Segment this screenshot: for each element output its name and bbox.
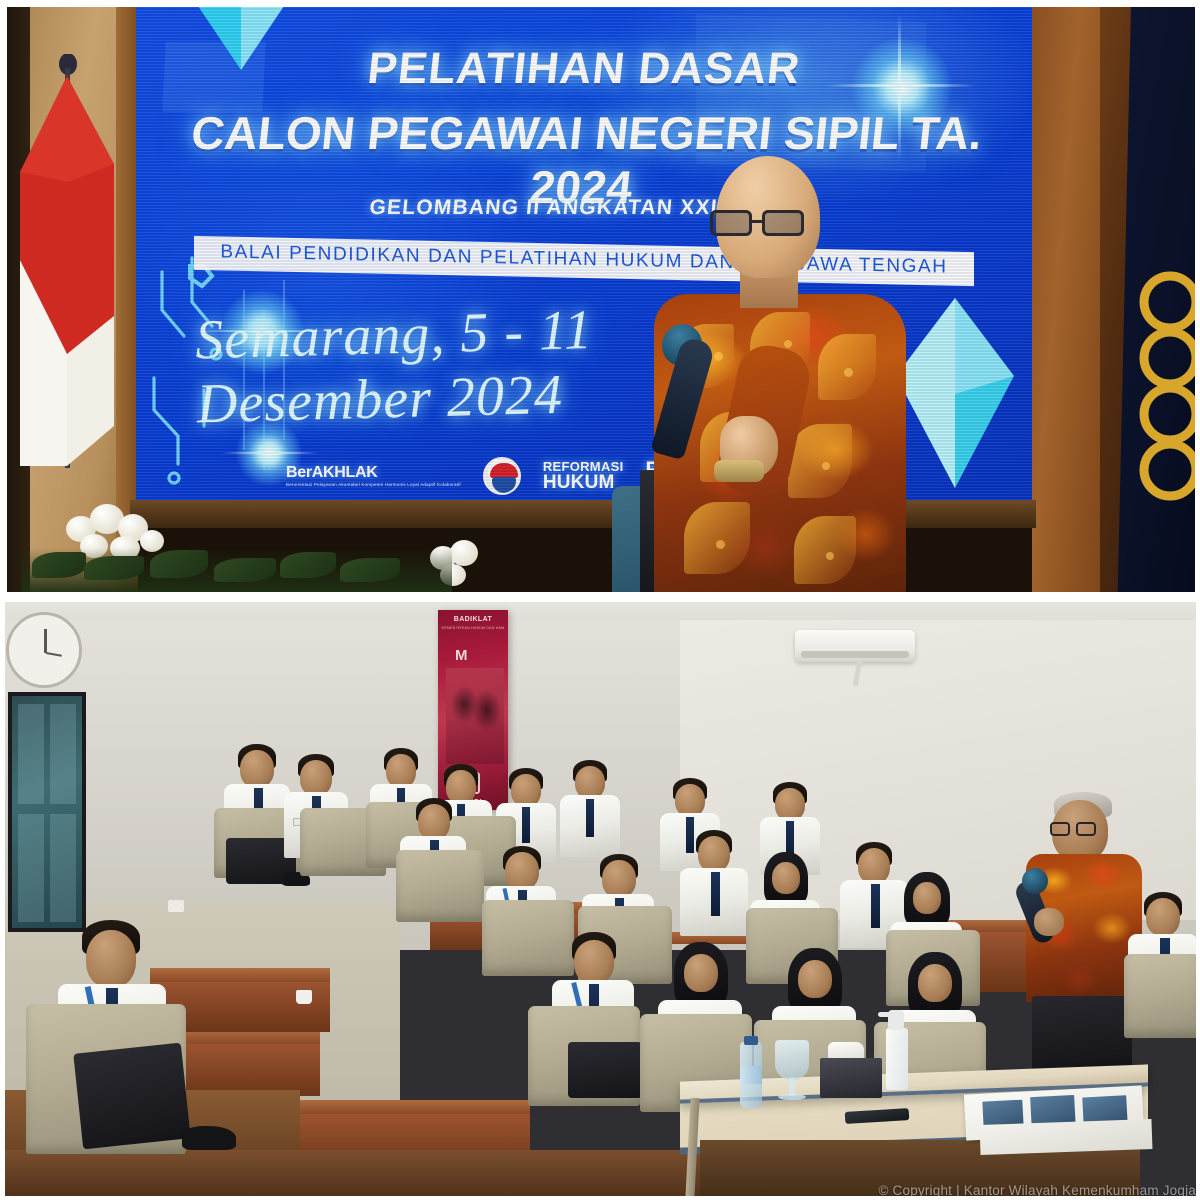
frame-border-left [0, 0, 7, 592]
audience-seat [1124, 954, 1200, 1038]
eyeglasses-icon [1050, 822, 1098, 836]
drinking-glass [775, 1040, 809, 1080]
right-wood-wall [1032, 0, 1104, 592]
banner-photo [446, 668, 504, 764]
banner-subtitle: KEMENTERIAN HUKUM DAN HAM [440, 626, 506, 630]
stage-speaker [610, 148, 930, 592]
tier-step [150, 968, 330, 982]
kemenkumham-seal-logo [483, 457, 521, 495]
drinking-glass-foot [778, 1094, 806, 1100]
banner-initial: M [455, 648, 485, 664]
indonesian-flag [8, 54, 128, 474]
photo-collage: PELATIHAN DASAR CALON PEGAWAI NEGERI SIP… [0, 0, 1200, 1200]
paper-cup [168, 900, 184, 912]
wristwatch-icon [714, 460, 764, 482]
water-bottle-cap [744, 1036, 758, 1045]
hand-sanitizer-nozzle [878, 1012, 894, 1017]
hall-floor [0, 1150, 700, 1200]
participant-legs [568, 1042, 642, 1098]
eyeglasses-icon [710, 210, 826, 236]
berakhlak-logo: BerAKHLAK Berorientasi Pelayanan Akuntab… [286, 465, 461, 488]
berakhlak-logo-text: BerAKHLAK [286, 464, 378, 481]
banner-title: BADIKLAT [440, 616, 506, 623]
glass-door[interactable] [8, 692, 86, 932]
screen-headline-line1: PELATIHAN DASAR [136, 44, 1032, 94]
frame-border-bottom-left [0, 602, 5, 1200]
hand-sanitizer [886, 1028, 908, 1090]
microphone-head [1022, 868, 1048, 894]
frame-border-bottom-right [1196, 602, 1200, 1200]
frame-border-top [0, 0, 1200, 7]
tissue-box [820, 1058, 882, 1098]
printed-papers [980, 1119, 1153, 1155]
panel-divider [0, 592, 1200, 602]
audience-seat [396, 850, 484, 922]
berakhlak-logo-subtext: Berorientasi Pelayanan Akuntabel Kompete… [286, 483, 461, 488]
frame-border-right [1195, 0, 1200, 592]
frame-border-bottom [0, 1196, 1200, 1200]
wall-clock [6, 612, 82, 688]
participant [680, 830, 750, 956]
participant-shoe [182, 1126, 236, 1150]
stage-led-screen-photo: PELATIHAN DASAR CALON PEGAWAI NEGERI SIP… [0, 0, 1200, 592]
gold-emblem-icon [1112, 262, 1198, 532]
water-bottle-label [740, 1066, 762, 1084]
greenery-row [22, 548, 452, 592]
participant-legs [73, 1043, 190, 1150]
air-conditioner [795, 630, 915, 662]
paper-cup [296, 990, 312, 1004]
